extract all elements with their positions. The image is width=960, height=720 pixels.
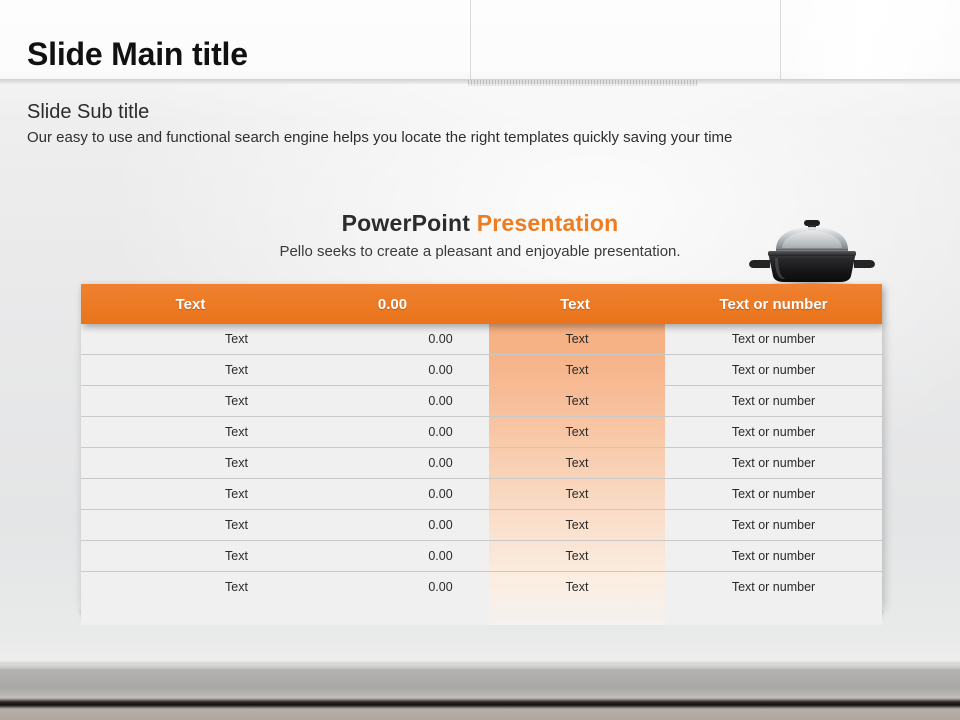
table-row[interactable]: Text 0.00 Text Text or number xyxy=(81,478,882,509)
table-cell: Text or number xyxy=(665,487,882,501)
countertop-edge xyxy=(0,664,960,720)
table-cell: Text xyxy=(489,332,665,346)
table-bottom-spacer xyxy=(81,602,882,625)
table-cell: Text xyxy=(81,456,392,470)
table-cell: Text or number xyxy=(665,580,882,594)
table-row[interactable]: Text 0.00 Text Text or number xyxy=(81,447,882,478)
table-cell: Text xyxy=(81,518,392,532)
table-cell: 0.00 xyxy=(392,487,489,501)
table-cell: Text xyxy=(81,487,392,501)
table-cell: Text xyxy=(81,549,392,563)
presentation-slide: Slide Main title Slide Sub title Our eas… xyxy=(0,0,960,720)
table-cell: Text or number xyxy=(665,332,882,346)
cooking-pot-icon xyxy=(742,216,882,288)
table-cell: 0.00 xyxy=(392,580,489,594)
table-header-cell[interactable]: 0.00 xyxy=(300,296,485,313)
table-row[interactable]: Text 0.00 Text Text or number xyxy=(81,354,882,385)
table-header-row: Text 0.00 Text Text or number xyxy=(81,284,882,324)
table-cell: Text or number xyxy=(665,394,882,408)
table-header-cell[interactable]: Text or number xyxy=(665,296,882,313)
table-cell: 0.00 xyxy=(392,518,489,532)
table-cell: 0.00 xyxy=(392,332,489,346)
table-cell: 0.00 xyxy=(392,394,489,408)
table-cell: Text xyxy=(489,580,665,594)
table-cell: 0.00 xyxy=(392,425,489,439)
table-cell: Text xyxy=(81,425,392,439)
table-cell: Text or number xyxy=(665,363,882,377)
table-cell: 0.00 xyxy=(392,363,489,377)
table-row[interactable]: Text 0.00 Text Text or number xyxy=(81,509,882,540)
table-body: Text 0.00 Text Text or number Text 0.00 … xyxy=(81,324,882,625)
page-description: Our easy to use and functional search en… xyxy=(27,129,732,146)
table-cell: Text xyxy=(489,487,665,501)
table-cell: Text xyxy=(489,363,665,377)
table-cell: Text xyxy=(81,580,392,594)
table-cell: 0.00 xyxy=(392,549,489,563)
table-cell: Text xyxy=(489,518,665,532)
table-row[interactable]: Text 0.00 Text Text or number xyxy=(81,324,882,354)
table-row[interactable]: Text 0.00 Text Text or number xyxy=(81,540,882,571)
table-cell: Text xyxy=(489,549,665,563)
table-cell: Text xyxy=(489,425,665,439)
table-cell: 0.00 xyxy=(392,456,489,470)
table-row[interactable]: Text 0.00 Text Text or number xyxy=(81,571,882,602)
table-cell: Text xyxy=(81,332,392,346)
page-subtitle: Slide Sub title xyxy=(27,101,149,124)
headline-primary: PowerPoint xyxy=(342,210,471,236)
table-cell: Text or number xyxy=(665,456,882,470)
table-cell: Text xyxy=(489,456,665,470)
table-row[interactable]: Text 0.00 Text Text or number xyxy=(81,385,882,416)
table-cell: Text xyxy=(81,394,392,408)
table-header-cell[interactable]: Text xyxy=(485,296,665,313)
table-cell: Text or number xyxy=(665,549,882,563)
data-table: Text 0.00 Text Text or number Text 0.00 … xyxy=(81,284,882,625)
table-row[interactable]: Text 0.00 Text Text or number xyxy=(81,416,882,447)
table-cell: Text or number xyxy=(665,425,882,439)
table-cell: Text xyxy=(81,363,392,377)
headline-accent: Presentation xyxy=(477,210,619,236)
table-cell: Text xyxy=(489,394,665,408)
table-header-cell[interactable]: Text xyxy=(81,296,300,313)
page-title: Slide Main title xyxy=(27,36,248,73)
table-cell: Text or number xyxy=(665,518,882,532)
